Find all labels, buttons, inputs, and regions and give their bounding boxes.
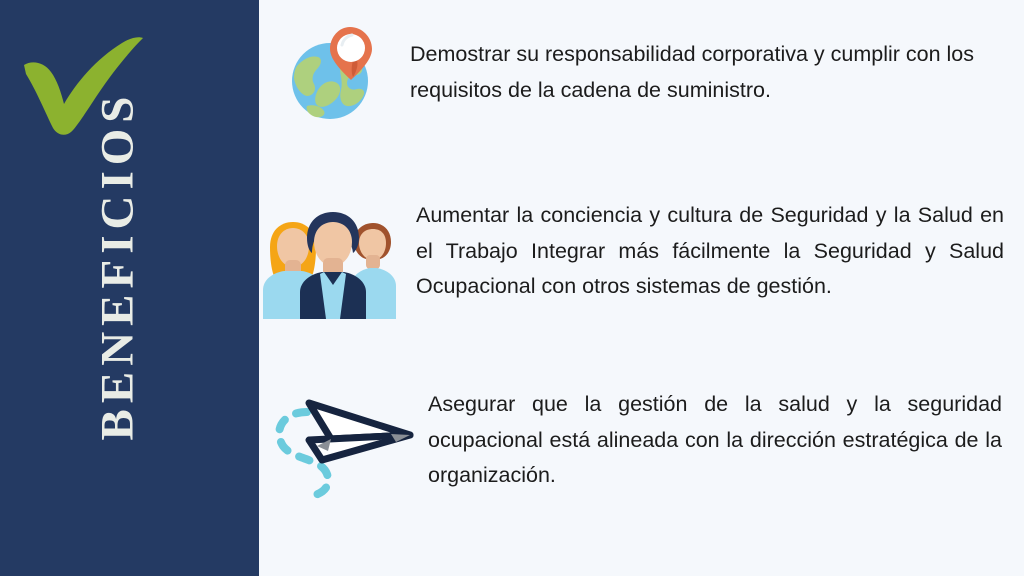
- benefit-row-1: Demostrar su responsabilidad corporativa…: [0, 0, 1024, 150]
- benefits-infographic-slide: BENEFICIOS Demostrar su responsabilidad …: [0, 0, 1024, 576]
- group-of-people-icon: [258, 197, 408, 319]
- globe-with-location-pin-icon: [285, 22, 380, 122]
- benefit-text-2: Aumentar la conciencia y cultura de Segu…: [416, 198, 1004, 305]
- benefit-text-3: Asegurar que la gestión de la salud y la…: [428, 387, 1002, 494]
- benefit-text-1: Demostrar su responsabilidad corporativa…: [410, 37, 1005, 108]
- paper-plane-with-dashed-trail-icon: [265, 378, 415, 500]
- benefit-row-3: Asegurar que la gestión de la salud y la…: [0, 370, 1024, 510]
- benefit-row-2: Aumentar la conciencia y cultura de Segu…: [0, 185, 1024, 345]
